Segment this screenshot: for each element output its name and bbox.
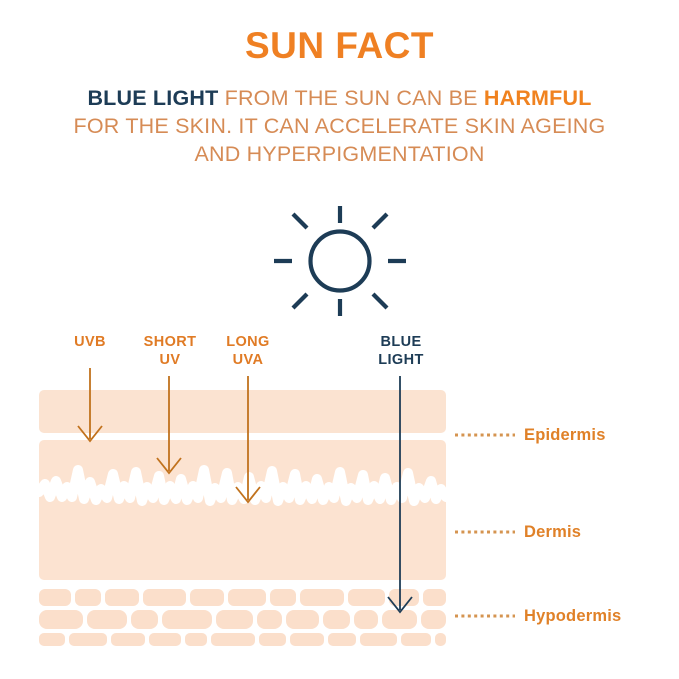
ray-label-long-uva: LONG UVA [214,333,282,369]
ray-label-short-uv: SHORT UV [136,333,204,369]
infographic-root: SUN FACT BLUE LIGHT FROM THE SUN CAN BE … [0,0,679,679]
layer-label-epidermis: Epidermis [524,426,606,445]
ray-label-blue-light: BLUE LIGHT [366,333,436,369]
ray-label-uvb: UVB [61,333,119,351]
dermis-block [39,440,446,580]
hypodermis-block [39,589,446,646]
epidermis-block [39,390,446,433]
layer-label-hypodermis: Hypodermis [524,607,621,626]
layer-leader-lines [455,435,515,616]
layer-label-dermis: Dermis [524,523,581,542]
